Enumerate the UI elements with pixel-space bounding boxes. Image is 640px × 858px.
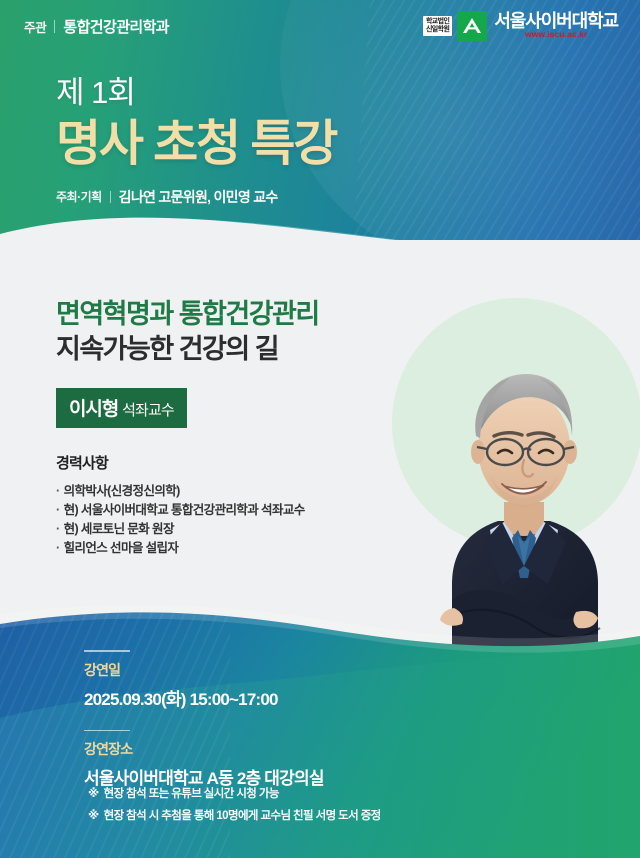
poster-header: 주관 통합건강관리학과 학교법인 신일학원 서울사이버대학교 www.iscu.… xyxy=(0,0,640,52)
host-divider xyxy=(54,20,55,33)
host-department: 통합건강관리학과 xyxy=(63,16,169,37)
event-date-label: 강연일 xyxy=(84,660,324,680)
career-item: · 현) 세로토닌 문화 원장 xyxy=(56,520,456,539)
career-item: · 힐리언스 선마을 설립자 xyxy=(56,539,456,558)
poster-main-title: 명사 초청 특강 xyxy=(56,117,496,173)
host-line: 주관 통합건강관리학과 xyxy=(24,16,169,37)
career-item-text: 힐리언스 선마을 설립자 xyxy=(64,539,179,558)
logo-text-group: 서울사이버대학교 www.iscu.ac.kr xyxy=(494,12,618,39)
note-text: 현장 참석 또는 유튜브 실시간 시청 가능 xyxy=(104,784,279,805)
note-mark-icon: ※ xyxy=(88,806,99,827)
host-label: 주관 xyxy=(24,17,46,36)
career-item-text: 의학박사(신경정신의학) xyxy=(64,482,180,501)
university-logo: 학교법인 신일학원 서울사이버대학교 www.iscu.ac.kr xyxy=(423,11,618,41)
event-date-value: 2025.09.30(화) 15:00~17:00 xyxy=(84,685,324,710)
triangle-mark-icon xyxy=(457,11,487,41)
speaker-name: 이시형 xyxy=(69,399,118,420)
career-bullet-icon: · xyxy=(56,539,60,558)
career-heading: 경력사항 xyxy=(56,452,456,473)
speaker-badge: 이시형석좌교수 xyxy=(56,388,187,428)
speaker-position: 석좌교수 xyxy=(122,402,174,419)
lecture-title-line-1: 면역혁명과 통합건강관리 xyxy=(56,298,456,331)
career-bullet-icon: · xyxy=(56,501,60,520)
date-rule xyxy=(84,650,130,652)
event-date-group: 강연일 2025.09.30(화) 15:00~17:00 xyxy=(84,650,324,710)
note-text: 현장 참석 시 추첨을 통해 10명에게 교수님 친필 서명 도서 증정 xyxy=(104,806,381,827)
organizer-line: 주최·기획 김나연 고문위원, 이민영 교수 xyxy=(56,187,496,207)
edition-label: 제 1회 xyxy=(56,76,496,111)
lecture-details: 면역혁명과 통합건강관리 지속가능한 건강의 길 이시형석좌교수 경력사항 · … xyxy=(56,298,456,558)
bottom-banner: 강연일 2025.09.30(화) 15:00~17:00 강연장소 서울사이버… xyxy=(0,598,640,858)
career-item: · 의학박사(신경정신의학) xyxy=(56,482,456,501)
event-notes: ※ 현장 참석 또는 유튜브 실시간 시청 가능 ※ 현장 참석 시 추첨을 통… xyxy=(88,784,381,827)
career-bullet-icon: · xyxy=(56,482,60,501)
organizer-divider xyxy=(110,191,111,203)
university-url: www.iscu.ac.kr xyxy=(494,30,618,39)
hero-title-block: 제 1회 명사 초청 특강 주최·기획 김나연 고문위원, 이민영 교수 xyxy=(56,76,496,207)
organizer-label: 주최·기획 xyxy=(56,188,102,205)
event-place-group: 강연장소 서울사이버대학교 A동 2층 대강의실 xyxy=(84,730,324,790)
lecture-poster: 주관 통합건강관리학과 학교법인 신일학원 서울사이버대학교 www.iscu.… xyxy=(0,0,640,858)
lecture-title-line-2: 지속가능한 건강의 길 xyxy=(56,333,456,366)
corporation-badge: 학교법인 신일학원 xyxy=(423,16,452,36)
career-item-text: 현) 세로토닌 문화 원장 xyxy=(64,520,174,539)
organizer-people: 김나연 고문위원, 이민영 교수 xyxy=(119,187,278,207)
career-bullet-icon: · xyxy=(56,520,60,539)
career-section: 경력사항 · 의학박사(신경정신의학) · 현) 서울사이버대학교 통합건강관리… xyxy=(56,452,456,558)
place-rule xyxy=(84,730,130,732)
note-item: ※ 현장 참석 시 추첨을 통해 10명에게 교수님 친필 서명 도서 증정 xyxy=(88,806,381,827)
corporation-line-2: 신일학원 xyxy=(426,26,449,34)
event-place-label: 강연장소 xyxy=(84,739,324,759)
corporation-line-1: 학교법인 xyxy=(426,18,449,26)
note-item: ※ 현장 참석 또는 유튜브 실시간 시청 가능 xyxy=(88,784,381,805)
note-mark-icon: ※ xyxy=(88,784,99,805)
career-item: · 현) 서울사이버대학교 통합건강관리학과 석좌교수 xyxy=(56,501,456,520)
career-item-text: 현) 서울사이버대학교 통합건강관리학과 석좌교수 xyxy=(64,501,305,520)
event-info: 강연일 2025.09.30(화) 15:00~17:00 강연장소 서울사이버… xyxy=(84,650,324,789)
